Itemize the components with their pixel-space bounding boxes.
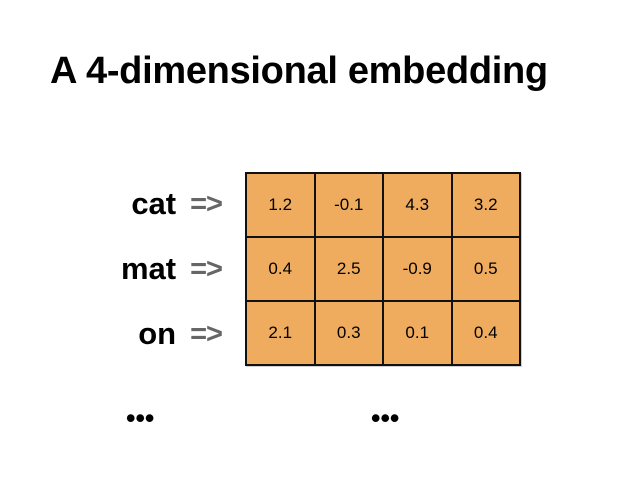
table-row: 2.1 0.3 0.1 0.4 [247,302,519,364]
page-title: A 4-dimensional embedding [50,48,610,94]
table-cell: 0.4 [247,238,316,300]
arrow-icon: => [190,252,222,286]
word-label-on: on [138,317,176,351]
ellipsis-labels: ••• [126,408,154,428]
arrow-icon: => [190,187,222,221]
table-cell: 4.3 [384,174,453,236]
table-cell: 3.2 [453,174,520,236]
table-cell: 0.4 [453,302,520,364]
ellipsis-table: ••• [371,408,399,428]
arrow-icon: => [190,317,222,351]
table-cell: 0.3 [316,302,385,364]
table-cell: 0.1 [384,302,453,364]
table-row: 0.4 2.5 -0.9 0.5 [247,238,519,302]
word-label-column: cat => mat => on => [30,172,226,366]
word-label-row: mat => [30,237,226,302]
table-cell: -0.1 [316,174,385,236]
table-cell: 0.5 [453,238,520,300]
word-label-mat: mat [121,252,176,286]
word-label-row: on => [30,301,226,366]
table-cell: 1.2 [247,174,316,236]
table-cell: 2.1 [247,302,316,364]
embedding-table: 1.2 -0.1 4.3 3.2 0.4 2.5 -0.9 0.5 2.1 0.… [245,172,521,366]
word-label-row: cat => [30,172,226,237]
table-cell: -0.9 [384,238,453,300]
slide-canvas: A 4-dimensional embedding cat => mat => … [0,0,638,484]
table-cell: 2.5 [316,238,385,300]
word-label-cat: cat [131,187,176,221]
table-row: 1.2 -0.1 4.3 3.2 [247,174,519,238]
